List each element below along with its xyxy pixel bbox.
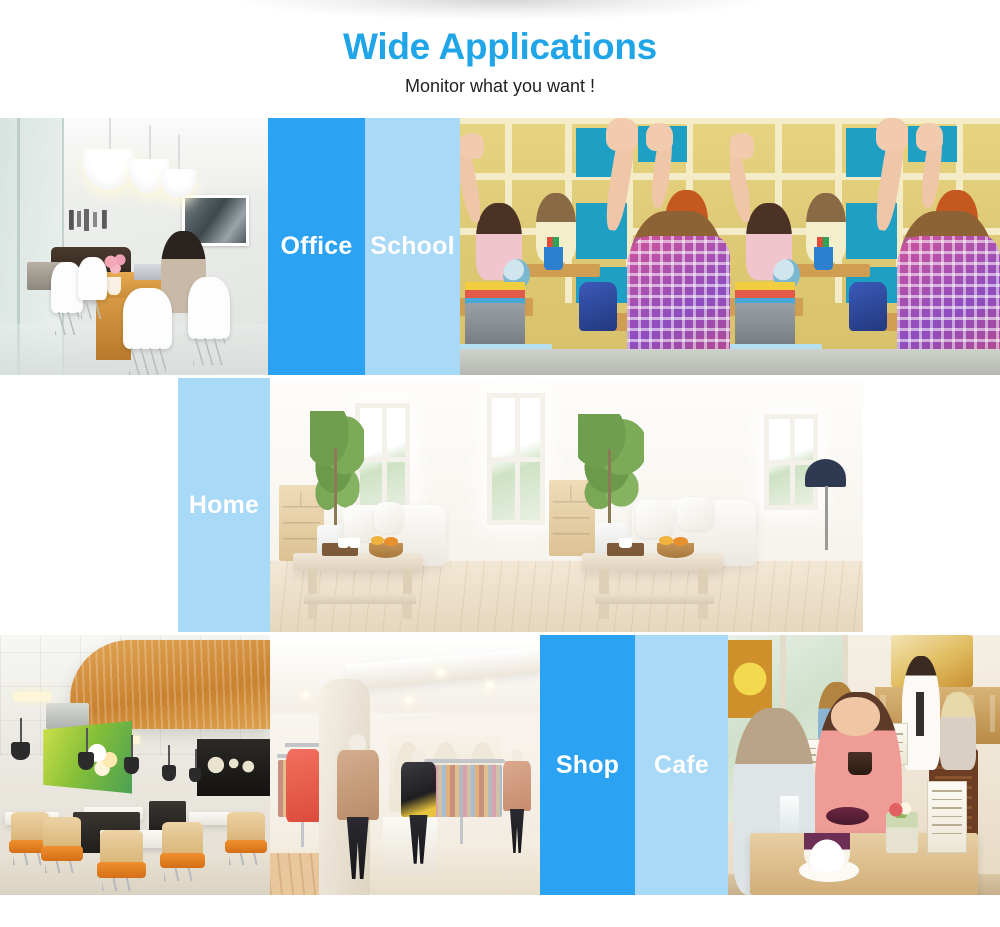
cafe-label[interactable]: Cafe xyxy=(635,635,728,895)
header-sheen-decoration xyxy=(180,0,820,26)
home-photo-wide xyxy=(450,378,863,632)
page-title: Wide Applications xyxy=(0,26,1000,68)
home-label[interactable]: Home xyxy=(178,378,270,632)
office-photo xyxy=(0,118,268,375)
page-header: Wide Applications Monitor what you want … xyxy=(0,0,1000,118)
applications-row-3: Shop Cafe xyxy=(0,635,1000,895)
school-photo xyxy=(460,118,1000,375)
office-label-text: Office xyxy=(280,232,352,261)
page-subtitle: Monitor what you want ! xyxy=(0,76,1000,97)
applications-row-1: Office School xyxy=(0,118,1000,375)
shop-photo xyxy=(270,635,540,895)
wide-applications-page: Wide Applications Monitor what you want … xyxy=(0,0,1000,927)
office-label[interactable]: Office xyxy=(268,118,365,375)
home-photo xyxy=(270,378,450,632)
shop-label-text: Shop xyxy=(556,751,619,780)
cafe-label-text: Cafe xyxy=(654,751,709,780)
home-label-text: Home xyxy=(189,491,259,520)
cafe-photo xyxy=(728,635,1000,895)
school-label-text: School xyxy=(370,232,455,261)
shop-label[interactable]: Shop xyxy=(540,635,635,895)
restaurant-photo xyxy=(0,635,270,895)
applications-row-2: Home xyxy=(0,378,1000,632)
school-label[interactable]: School xyxy=(365,118,460,375)
